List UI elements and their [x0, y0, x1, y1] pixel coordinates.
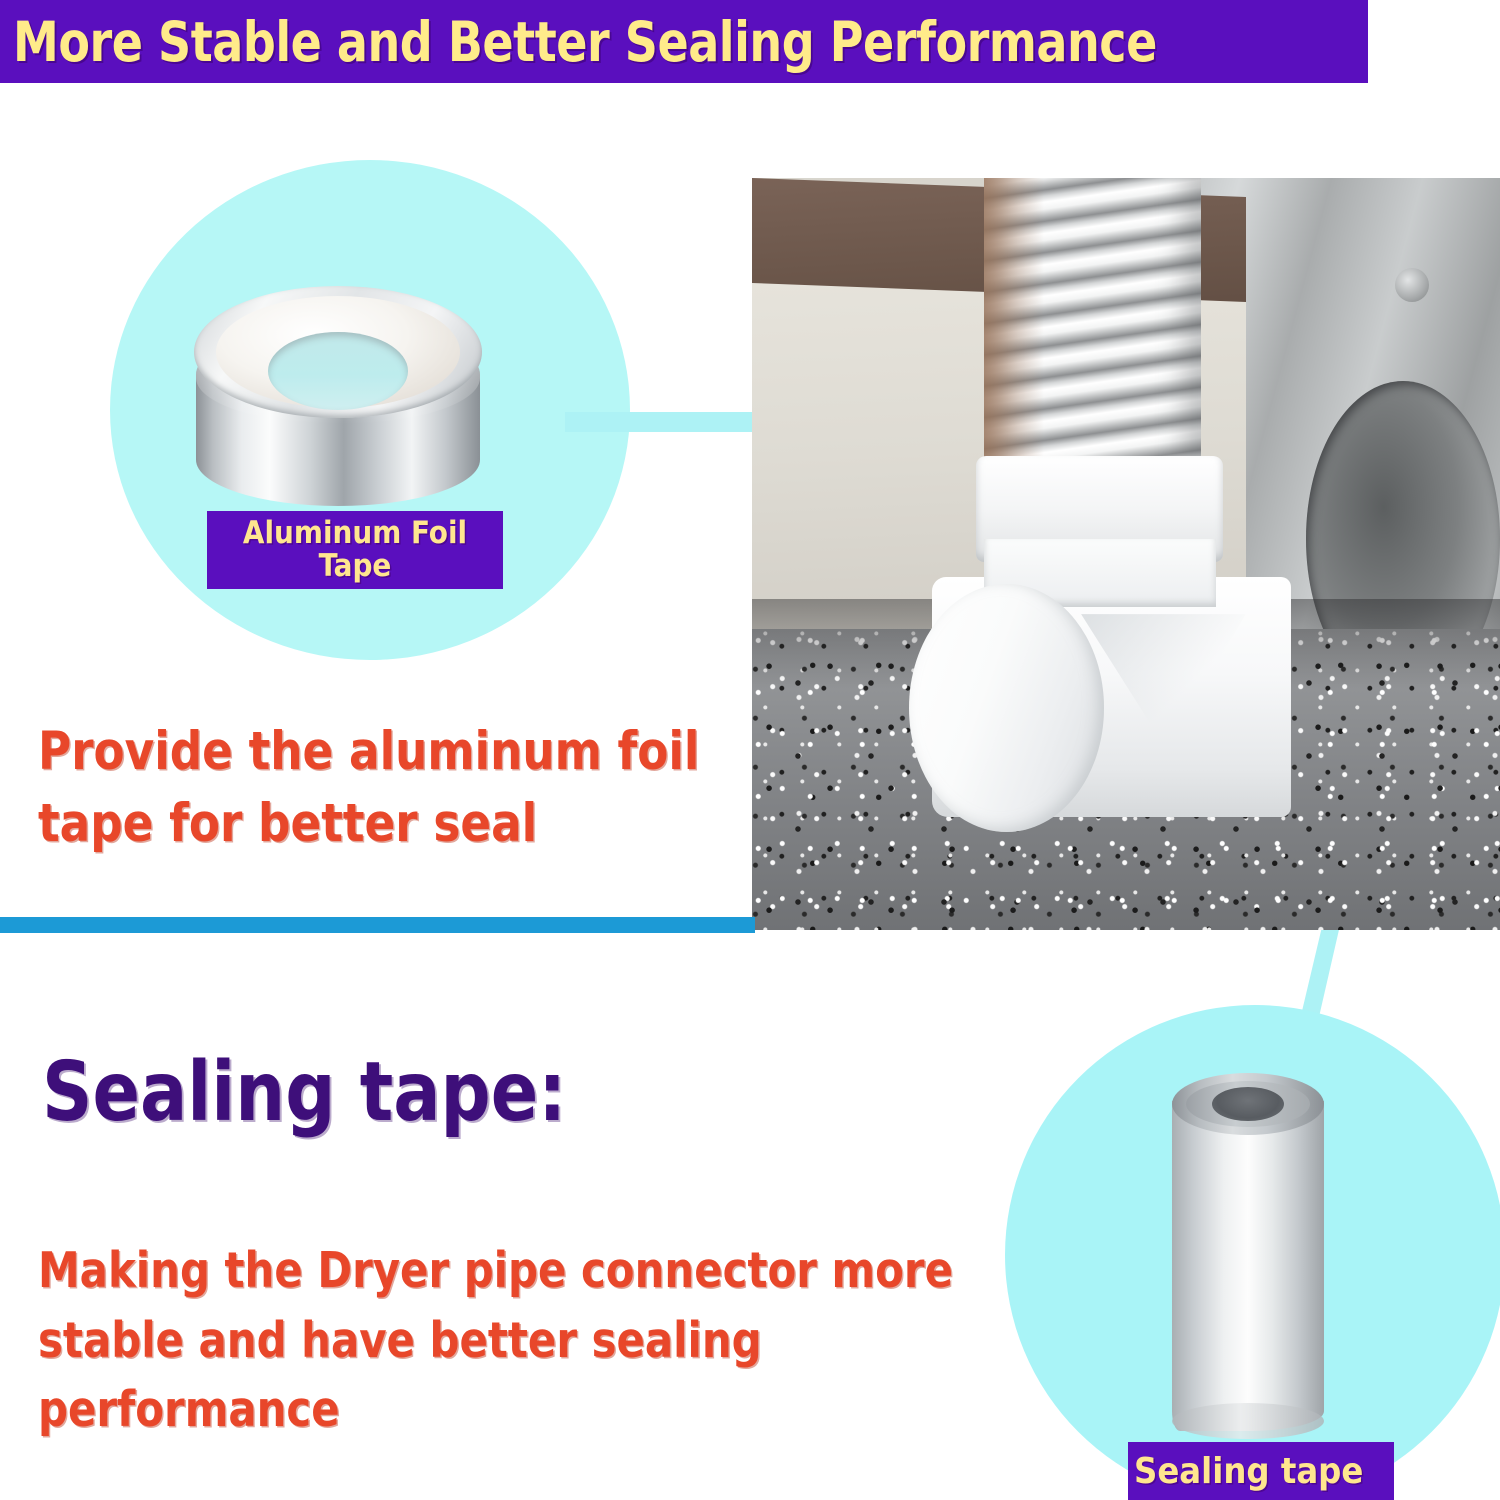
sealing-tape-heading: Sealing tape: — [42, 1052, 566, 1134]
foil-roll-core-hole — [268, 332, 408, 410]
sealing-roll-core-hole — [1212, 1087, 1284, 1121]
page-title: More Stable and Better Sealing Performan… — [0, 10, 1157, 74]
bottom-description-text: Making the Dryer pipe connector more sta… — [38, 1236, 969, 1445]
top-description-text: Provide the aluminum foil tape for bette… — [38, 716, 703, 859]
section-divider — [0, 917, 755, 933]
photo-duct-shadow — [984, 178, 1044, 494]
aluminum-foil-tape-roll-icon — [192, 282, 484, 514]
dryer-vent-connector-photo — [752, 178, 1500, 930]
header-banner: More Stable and Better Sealing Performan… — [0, 0, 1368, 83]
aluminum-foil-tape-label: Aluminum Foil Tape — [207, 511, 503, 589]
sealing-tape-label: Sealing tape — [1128, 1442, 1394, 1500]
photo-connector-end-cap — [909, 584, 1103, 832]
sealing-tape-roll-icon — [1172, 1065, 1324, 1435]
sealing-roll-body — [1172, 1101, 1324, 1431]
